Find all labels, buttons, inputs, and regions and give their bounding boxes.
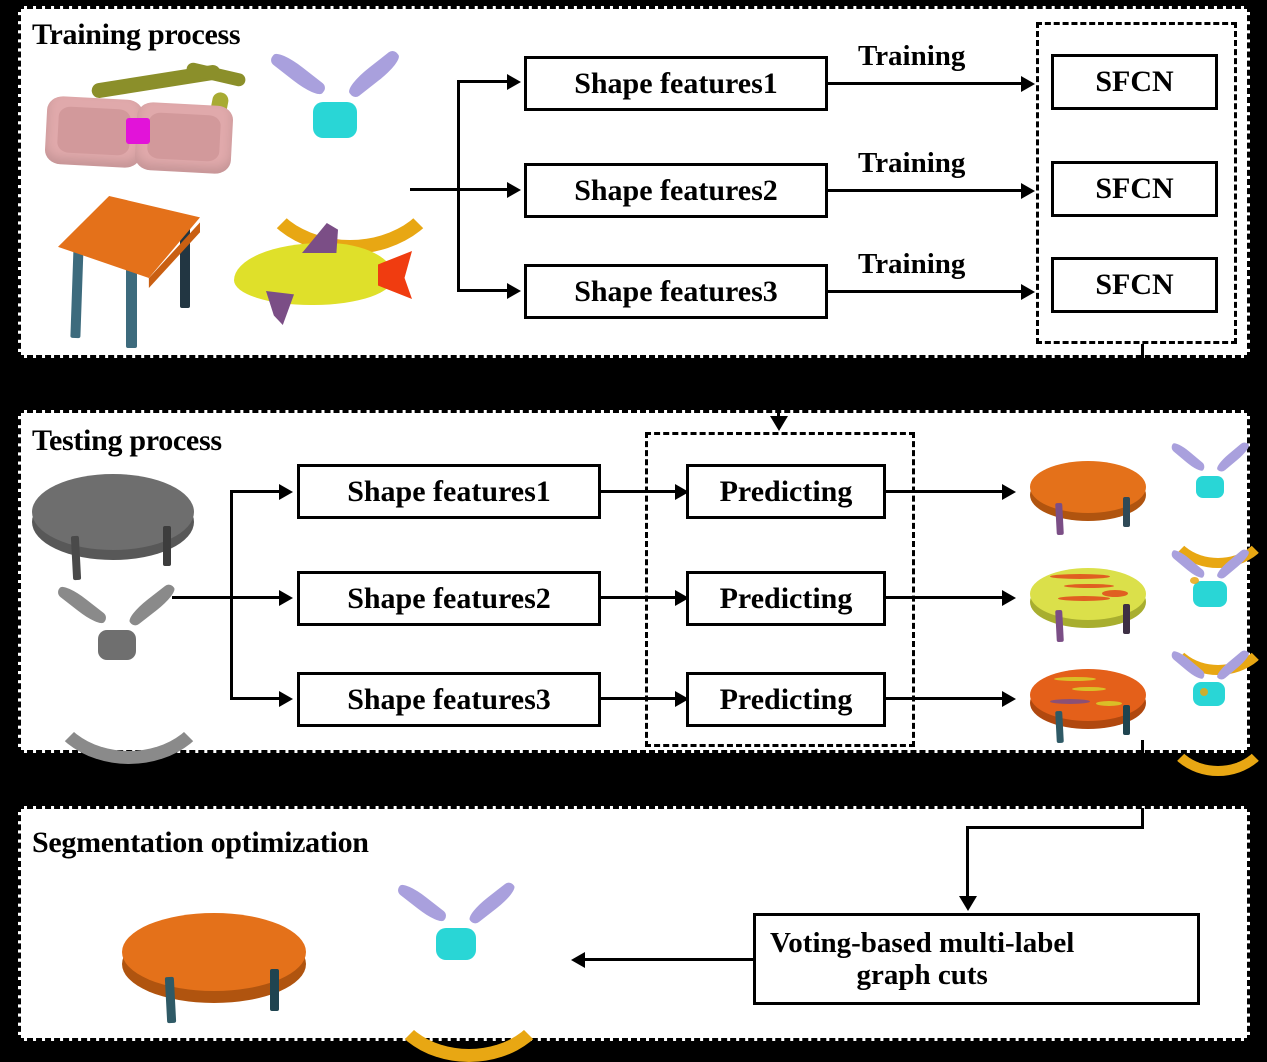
training-fork-branch-3 [457, 289, 507, 292]
training-fork-branch-2 [457, 188, 507, 191]
model-pliers-pred-3 [1160, 658, 1258, 743]
testing-fork-arrow-1 [279, 484, 293, 500]
testing-fork-arrow-2 [279, 590, 293, 606]
training-fork-bus [457, 80, 460, 292]
testing-shape-features-1[interactable]: Shape features1 [297, 464, 601, 519]
model-pliers-pred-1 [1160, 450, 1258, 535]
testing-output-arrow-1 [1002, 484, 1016, 500]
optimization-output-edge [585, 958, 755, 961]
testing-fork-stem [172, 596, 232, 599]
sfcn-box-1[interactable]: SFCN [1051, 54, 1218, 110]
optimization-inlet-right [1141, 808, 1144, 828]
predict-group-inlet-arrow [770, 416, 788, 431]
training-edge-3 [828, 290, 1023, 293]
predicting-box-1[interactable]: Predicting [686, 464, 886, 519]
voting-graph-cuts-box[interactable]: Voting-based multi-label graph cuts [753, 913, 1200, 1005]
training-shape-features-1[interactable]: Shape features1 [524, 56, 828, 111]
training-shape-features-2[interactable]: Shape features2 [524, 163, 828, 218]
testing-fork-branch-1 [230, 490, 280, 493]
predicting-box-3[interactable]: Predicting [686, 672, 886, 727]
optimization-inlet-drop [966, 826, 969, 898]
model-round-table-unlabeled [30, 470, 205, 580]
training-shape-features-3[interactable]: Shape features3 [524, 264, 828, 319]
model-eyeglasses [36, 66, 251, 196]
voting-box-line1: Voting-based multi-label [770, 927, 1074, 959]
model-round-table-pred-1 [1028, 455, 1153, 535]
optimization-output-arrow [571, 952, 585, 968]
training-edge-label-3: Training [858, 248, 965, 281]
testing-shape-features-3[interactable]: Shape features3 [297, 672, 601, 727]
training-edge-2 [828, 189, 1023, 192]
sfcn-to-predict-stem [1141, 344, 1144, 366]
testing-output-arrow-3 [1002, 691, 1016, 707]
model-dolphin [230, 215, 420, 340]
testing-output-edge-2 [886, 596, 1004, 599]
training-fork-arrow-2 [507, 182, 521, 198]
model-round-table-final [120, 905, 320, 1025]
sfcn-box-3[interactable]: SFCN [1051, 257, 1218, 313]
training-edge-arrow-1 [1021, 76, 1035, 92]
training-fork-branch-1 [457, 80, 507, 83]
training-edge-1 [828, 82, 1023, 85]
optimization-panel-title: Segmentation optimization [32, 826, 369, 860]
testing-to-optimization-stem [1141, 740, 1144, 758]
voting-box-line2: graph cuts [856, 959, 987, 991]
testing-panel-title: Testing process [32, 424, 222, 458]
testing-output-edge-1 [886, 490, 1004, 493]
training-fork-arrow-1 [507, 74, 521, 90]
training-fork-arrow-3 [507, 283, 521, 299]
predicting-box-2[interactable]: Predicting [686, 571, 886, 626]
testing-output-arrow-2 [1002, 590, 1016, 606]
testing-shape-features-2[interactable]: Shape features2 [297, 571, 601, 626]
predict-group-inlet [777, 386, 780, 418]
training-edge-label-2: Training [858, 147, 965, 180]
model-pliers-final [378, 890, 538, 1015]
model-round-table-pred-2 [1028, 562, 1153, 642]
testing-fork-bus [230, 490, 233, 700]
model-pliers-pred-2 [1160, 557, 1258, 642]
sfcn-box-2[interactable]: SFCN [1051, 161, 1218, 217]
model-square-table [48, 192, 223, 347]
testing-fork-branch-3 [230, 697, 280, 700]
model-pliers-training [245, 60, 430, 205]
optimization-inlet-top [966, 826, 1144, 829]
model-round-table-pred-3 [1028, 663, 1153, 743]
optimization-inlet-arrow [959, 896, 977, 911]
testing-output-edge-3 [886, 697, 1004, 700]
training-panel-title: Training process [32, 18, 240, 52]
training-edge-arrow-3 [1021, 284, 1035, 300]
testing-fork-arrow-3 [279, 691, 293, 707]
testing-fork-branch-2 [230, 596, 280, 599]
training-edge-label-1: Training [858, 40, 965, 73]
voting-box-text: Voting-based multi-label graph cuts [770, 927, 1074, 992]
diagram-root: Training process Shape feature [0, 0, 1267, 1047]
training-edge-arrow-2 [1021, 183, 1035, 199]
model-pliers-unlabeled [38, 592, 198, 717]
